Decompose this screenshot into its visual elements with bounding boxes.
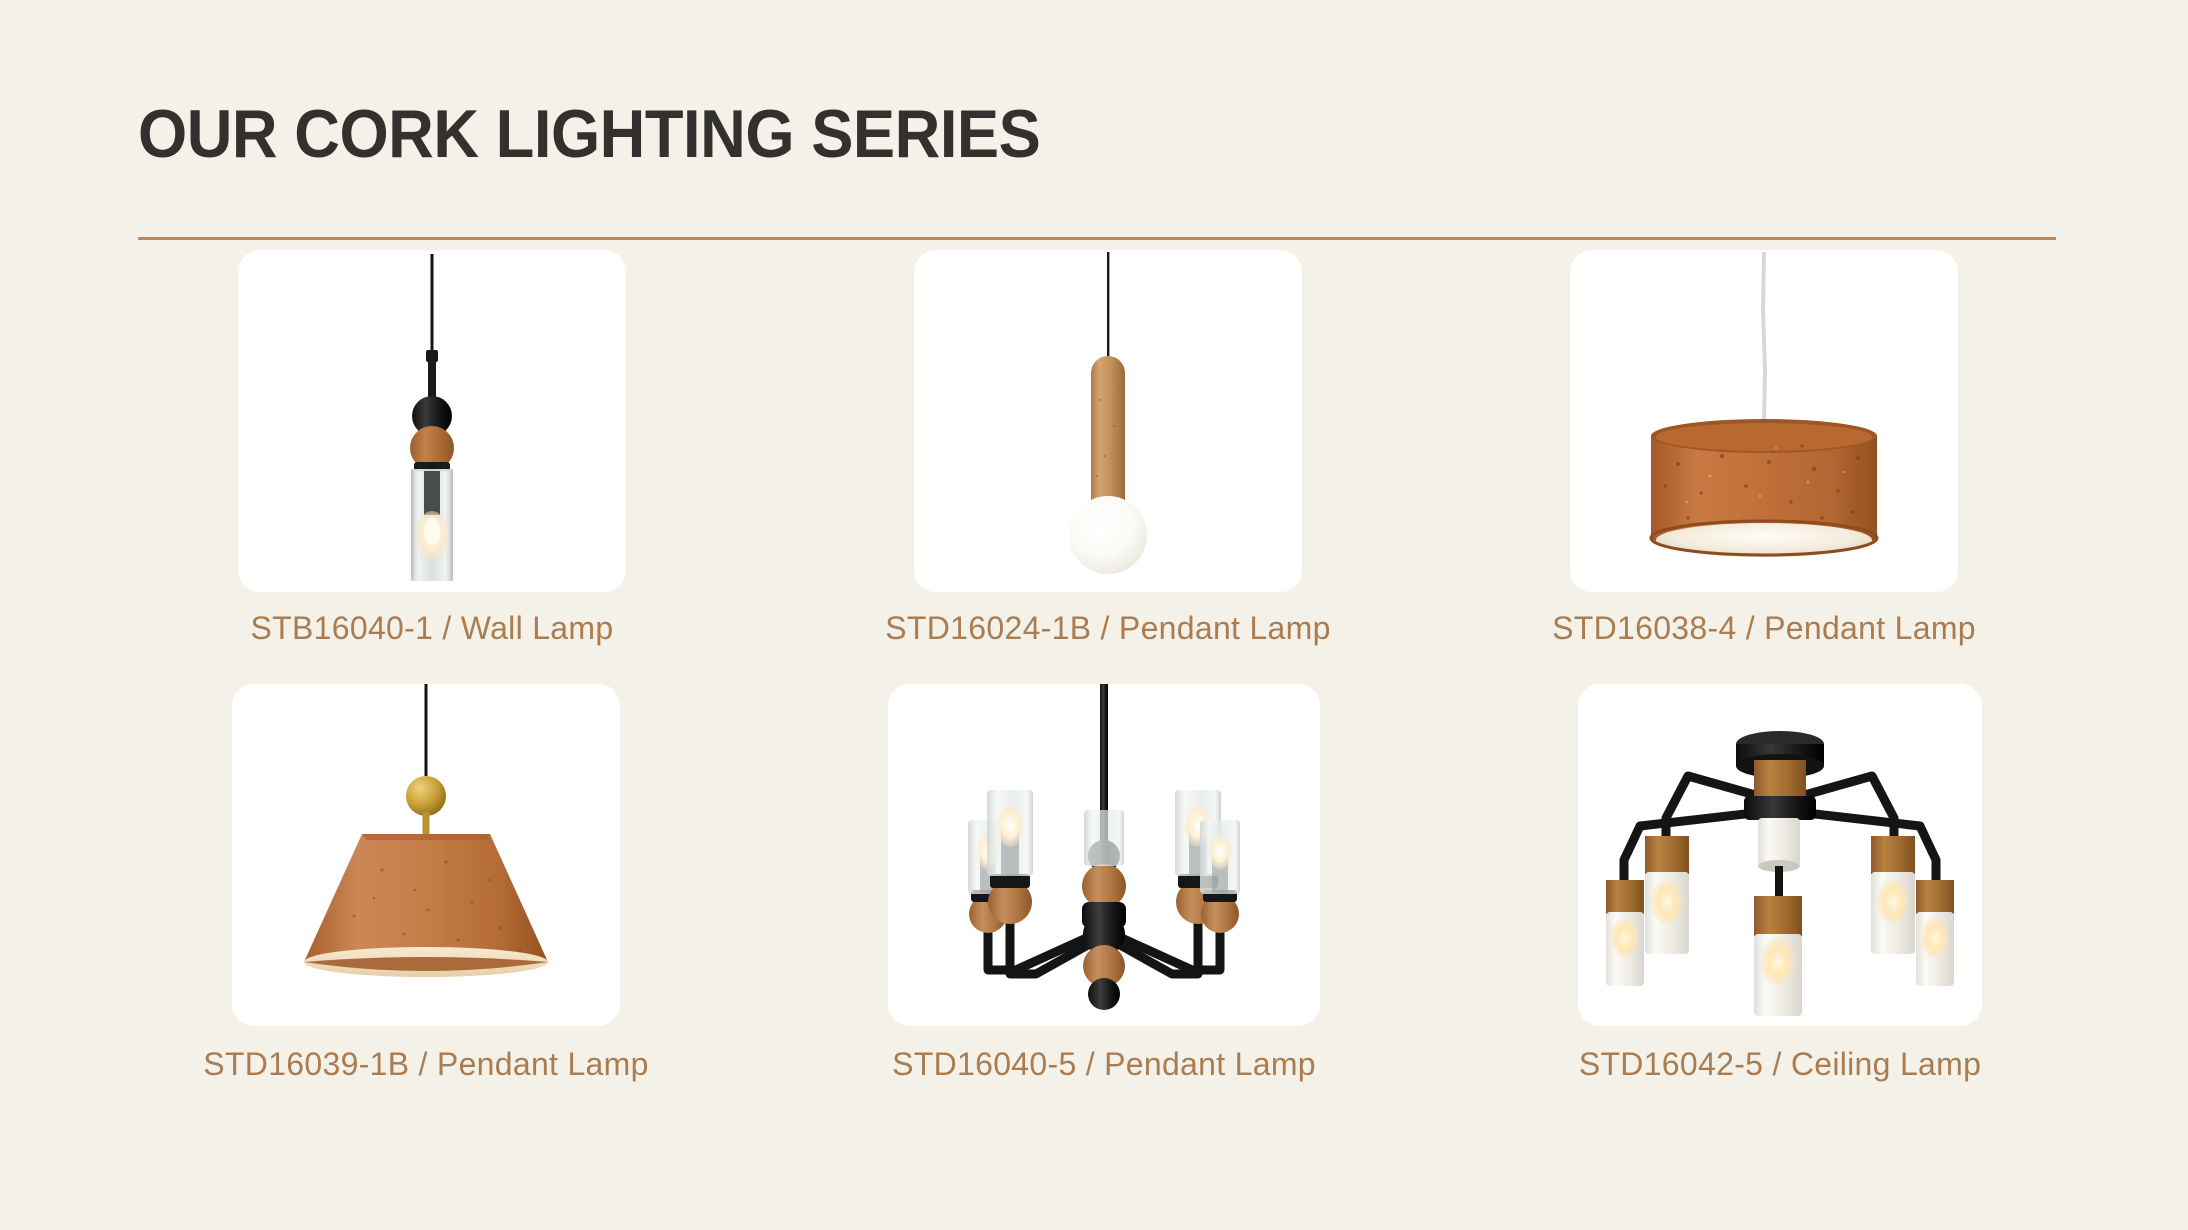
wall-lamp-cylinder-icon <box>238 250 626 592</box>
product-caption: STB16040-1 / Wall Lamp <box>251 610 614 647</box>
pendant-cork-cone-shade-icon <box>232 684 620 1026</box>
pendant-cork-tube-globe-icon <box>914 250 1302 592</box>
product-cell-std16042-5[interactable]: STD16042-5 / Ceiling Lamp <box>1418 684 2058 1083</box>
product-image-card[interactable] <box>238 250 626 592</box>
product-image-card[interactable] <box>232 684 620 1026</box>
product-image-card[interactable] <box>914 250 1302 592</box>
product-cell-std16024-1b[interactable]: STD16024-1B / Pendant Lamp <box>778 250 1418 647</box>
product-grid: STB16040-1 / Wall Lamp <box>138 250 2058 1083</box>
product-caption: STD16040-5 / Pendant Lamp <box>892 1046 1316 1083</box>
product-cell-stb16040-1[interactable]: STB16040-1 / Wall Lamp <box>138 250 778 647</box>
page-header: OUR CORK LIGHTING SERIES <box>138 100 2058 169</box>
page-title: OUR CORK LIGHTING SERIES <box>138 100 1924 169</box>
product-image-card[interactable] <box>1578 684 1982 1026</box>
product-image-card[interactable] <box>1570 250 1958 592</box>
product-cell-std16040-5[interactable]: STD16040-5 / Pendant Lamp <box>778 684 1418 1083</box>
product-caption: STD16024-1B / Pendant Lamp <box>885 610 1330 647</box>
product-caption: STD16039-1B / Pendant Lamp <box>203 1046 648 1083</box>
product-caption: STD16038-4 / Pendant Lamp <box>1552 610 1976 647</box>
product-image-card[interactable] <box>888 684 1320 1026</box>
product-cell-std16038-4[interactable]: STD16038-4 / Pendant Lamp <box>1418 250 2058 647</box>
product-cell-std16039-1b[interactable]: STD16039-1B / Pendant Lamp <box>138 684 778 1083</box>
title-divider <box>138 237 2056 240</box>
pendant-cork-drum-shade-icon <box>1570 250 1958 592</box>
pendant-5-arm-chandelier-icon <box>888 684 1320 1026</box>
ceiling-5-arm-spider-icon <box>1578 684 1982 1026</box>
product-caption: STD16042-5 / Ceiling Lamp <box>1579 1046 1981 1083</box>
product-row-2: STD16039-1B / Pendant Lamp <box>138 684 2058 1083</box>
product-row-1: STB16040-1 / Wall Lamp <box>138 250 2058 647</box>
catalog-page: OUR CORK LIGHTING SERIES <box>0 0 2188 1230</box>
